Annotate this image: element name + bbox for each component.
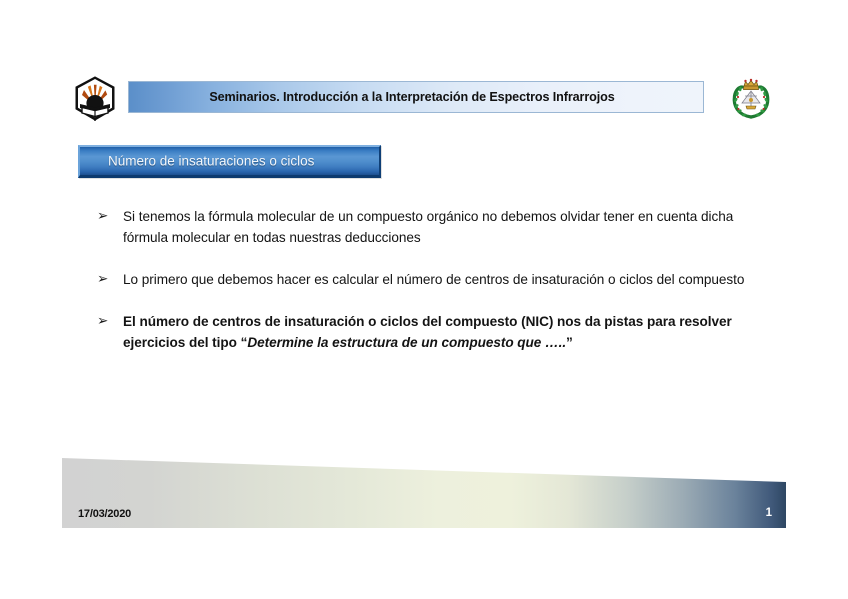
- bullet-text: Lo primero que debemos hacer es calcular…: [123, 269, 777, 290]
- page-number: 1: [766, 507, 772, 519]
- list-item: ➢ Lo primero que debemos hacer es calcul…: [97, 269, 777, 290]
- slide-body: ➢ Si tenemos la fórmula molecular de un …: [97, 206, 777, 374]
- slide-footer: 17/03/2020 1: [62, 452, 786, 530]
- page-title: Seminarios. Introducción a la Interpreta…: [129, 90, 695, 104]
- section-banner: Número de insaturaciones o ciclos: [78, 145, 381, 178]
- slide-canvas: Seminarios. Introducción a la Interpreta…: [0, 0, 848, 599]
- section-banner-label: Número de insaturaciones o ciclos: [108, 154, 314, 169]
- bullet-text-quote: Determine la estructura de un compuesto …: [247, 335, 566, 350]
- list-item: ➢ El número de centros de insaturación o…: [97, 311, 777, 353]
- slide-header: Seminarios. Introducción a la Interpreta…: [74, 74, 780, 124]
- arrow-bullet-icon: ➢: [97, 269, 123, 290]
- footer-wedge-shape: [62, 452, 786, 530]
- arrow-bullet-icon: ➢: [97, 206, 123, 227]
- bullet-text-trail: ”: [566, 335, 573, 350]
- header-title-bar: Seminarios. Introducción a la Interpreta…: [128, 81, 704, 113]
- footer-date: 17/03/2020: [78, 508, 131, 520]
- list-item: ➢ Si tenemos la fórmula molecular de un …: [97, 206, 777, 248]
- bullet-text: El número de centros de insaturación o c…: [123, 311, 777, 353]
- bullet-text: Si tenemos la fórmula molecular de un co…: [123, 206, 777, 248]
- facultad-de-ciencias-emblem: [728, 76, 774, 122]
- universidad-de-cordoba-logo: [74, 76, 116, 122]
- arrow-bullet-icon: ➢: [97, 311, 123, 332]
